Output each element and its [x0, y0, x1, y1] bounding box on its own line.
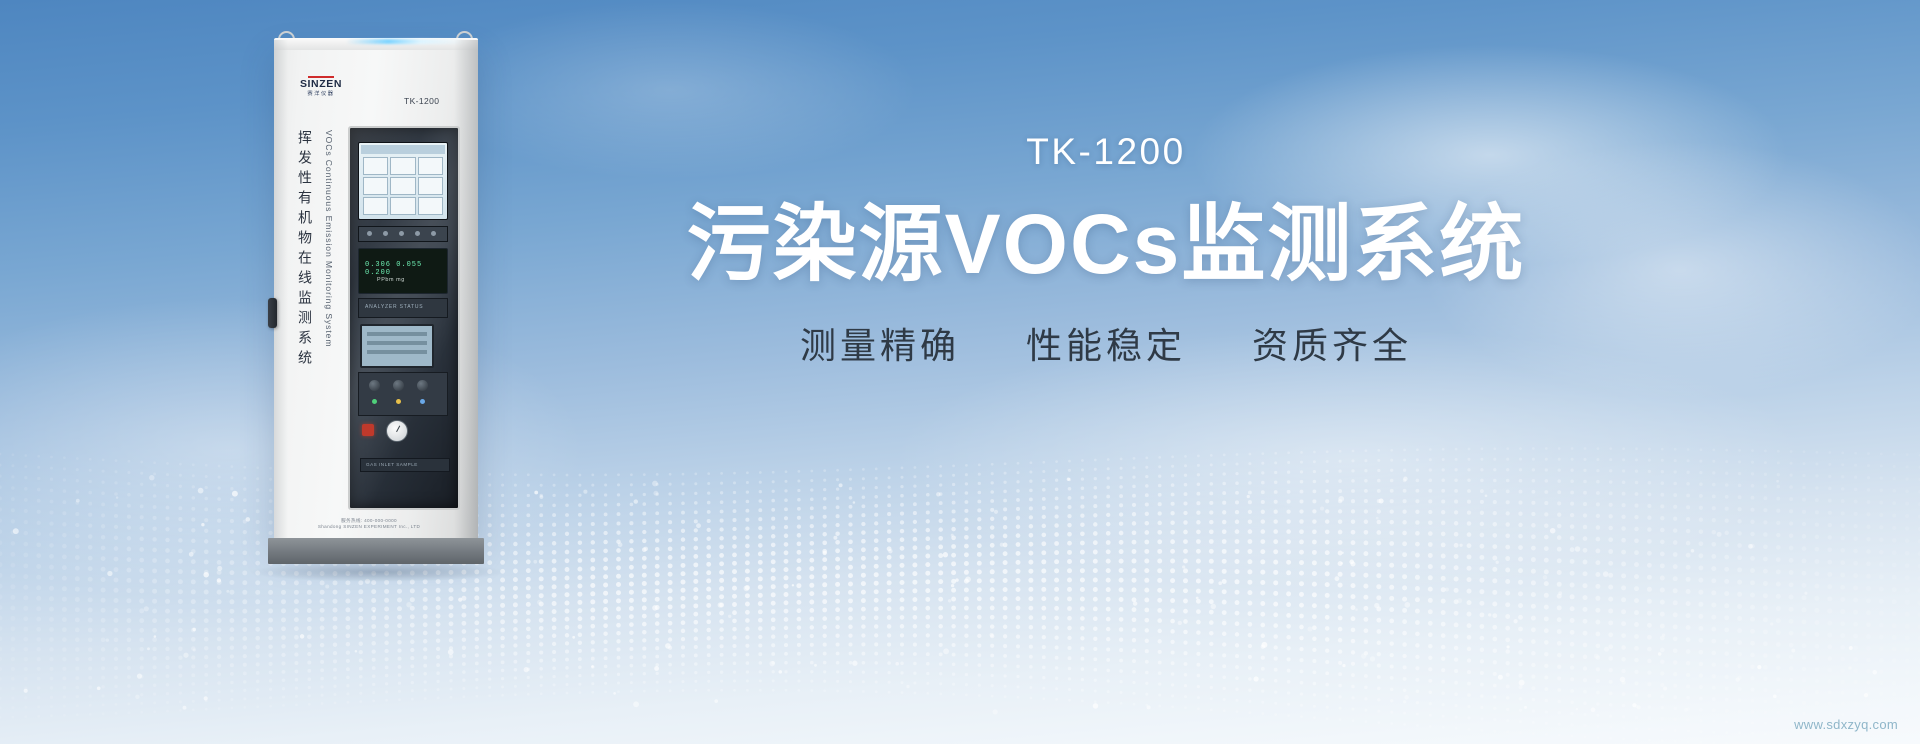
hmi-tile — [363, 197, 388, 215]
cloud-haze-3 — [900, 330, 1800, 590]
hmi-tile-grid — [363, 157, 443, 215]
hmi-tile — [418, 157, 443, 175]
pressure-gauge-icon — [386, 420, 408, 442]
cabinet-top-highlight — [346, 39, 466, 44]
hmi-tile — [390, 157, 415, 175]
brand-logo: SINZEN 赛洋仪器 — [290, 76, 352, 97]
digital-readout-display: 0.306 0.055 0.200 PPbm mg — [358, 248, 448, 294]
readout-unit: PPbm mg — [377, 277, 405, 283]
cabinet-left-shading — [274, 40, 288, 540]
readout-value: 0.306 0.055 0.200 — [365, 261, 447, 277]
control-panel — [358, 372, 448, 416]
status-led-green — [372, 399, 377, 404]
brand-chinese-name: 赛洋仪器 — [290, 90, 352, 97]
hmi-tile — [418, 197, 443, 215]
banner-copy-block: TK-1200 污染源VOCs监测系统 测量精确 性能稳定 资质齐全 — [556, 130, 1656, 368]
instrument-glass-door: 0.306 0.055 0.200 PPbm mg ANALYZER STATU… — [348, 126, 460, 510]
cabinet-base-plinth — [268, 538, 484, 564]
control-knob-1 — [369, 380, 380, 391]
hmi-tile — [390, 177, 415, 195]
control-knob-3 — [417, 380, 428, 391]
hmi-touchscreen — [358, 142, 448, 220]
status-led-amber — [396, 399, 401, 404]
floor-shadow — [248, 562, 508, 582]
feature-item-3: 资质齐全 — [1252, 324, 1412, 368]
product-cabinet: SINZEN 赛洋仪器 TK-1200 挥发性有机物在线监测系统 VOCs Co… — [268, 30, 484, 560]
secondary-lcd-screen — [360, 324, 434, 368]
cabinet-model-label: TK-1200 — [404, 96, 439, 106]
feature-list: 测量精确 性能稳定 资质齐全 — [556, 324, 1656, 368]
emergency-stop-button[interactable] — [362, 424, 374, 436]
gas-inlet-label: GAS INLET SAMPLE — [366, 462, 418, 467]
hmi-tile — [363, 177, 388, 195]
analyzer-status-bar: ANALYZER STATUS — [358, 298, 448, 318]
door-handle — [268, 298, 277, 328]
brand-wordmark: SINZEN — [290, 79, 352, 89]
cabinet-vertical-english-text: VOCs Continuous Emission Monitoring Syst… — [316, 130, 334, 347]
cabinet-footer-text: 服务热线: 400-000-0000 Shandong SINZEN EXPER… — [294, 518, 444, 530]
hmi-title-bar — [361, 145, 445, 154]
cabinet-vertical-chinese-text: 挥发性有机物在线监测系统 — [290, 130, 312, 370]
analyzer-status-label: ANALYZER STATUS — [365, 304, 423, 310]
banner-headline: 污染源VOCs监测系统 — [556, 196, 1656, 292]
hmi-tile — [363, 157, 388, 175]
status-led-blue — [420, 399, 425, 404]
feature-item-1: 测量精确 — [800, 324, 960, 368]
footer-line-2: Shandong SINZEN EXPERIMENT Inc., LTD — [294, 524, 444, 530]
indicator-strip — [358, 226, 448, 242]
site-watermark: www.sdxzyq.com — [1794, 717, 1898, 732]
product-banner: SINZEN 赛洋仪器 TK-1200 挥发性有机物在线监测系统 VOCs Co… — [0, 0, 1920, 744]
hmi-tile — [418, 177, 443, 195]
control-knob-2 — [393, 380, 404, 391]
product-model-eyebrow: TK-1200 — [556, 130, 1656, 174]
feature-item-2: 性能稳定 — [1026, 324, 1186, 368]
hmi-tile — [390, 197, 415, 215]
gas-inlet-label-plate: GAS INLET SAMPLE — [360, 458, 450, 472]
